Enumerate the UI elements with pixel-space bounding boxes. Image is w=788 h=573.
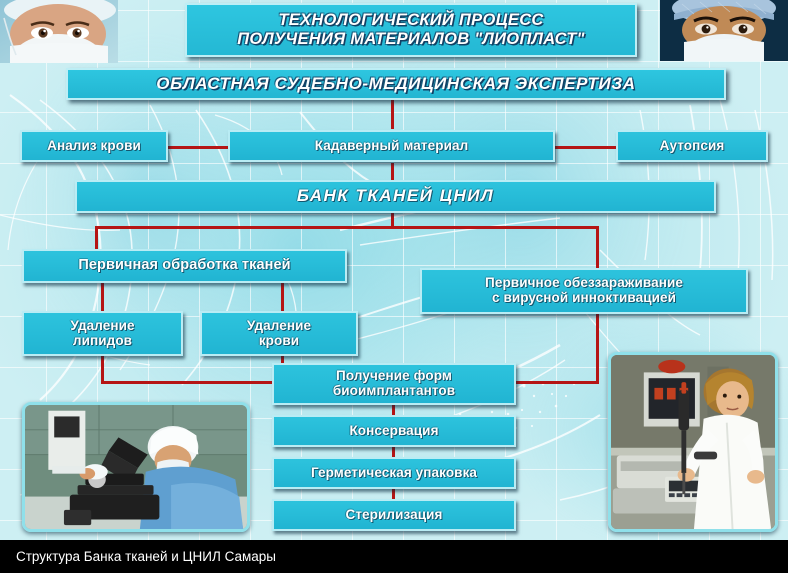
connector-lipid-to-forms	[101, 381, 279, 384]
node-conservation[interactable]: Консервация	[272, 415, 516, 447]
subtitle-banner: ОБЛАСТНАЯ СУДЕБНО-МЕДИЦИНСКАЯ ЭКСПЕРТИЗА	[66, 68, 726, 100]
node-primary-disinfection-line-1: Первичное обеззараживание	[485, 276, 683, 291]
node-tissue-bank[interactable]: БАНК ТКАНЕЙ ЦНИЛ	[75, 180, 716, 213]
node-lipid-removal-line-1: Удаление	[70, 319, 134, 334]
node-hermetic-packaging[interactable]: Герметическая упаковка	[272, 457, 516, 489]
node-blood-removal[interactable]: Удаление крови	[200, 311, 358, 356]
subtitle-text: ОБЛАСТНАЯ СУДЕБНО-МЕДИЦИНСКАЯ ЭКСПЕРТИЗА	[156, 74, 635, 94]
lab-technician-pipette-photo	[608, 352, 778, 532]
node-biomplant-forms-line-1: Получение форм	[336, 369, 452, 384]
masked-doctor-photo	[660, 0, 788, 61]
node-sterilization-label: Стерилизация	[345, 508, 442, 523]
node-blood-removal-line-2: крови	[259, 334, 299, 349]
connector-processing-to-lipid	[101, 282, 104, 312]
node-autopsy[interactable]: Аутопсия	[616, 130, 768, 162]
connector-lipid-down	[101, 355, 104, 383]
node-cadaver-material[interactable]: Кадаверный материал	[228, 130, 555, 162]
connector-bus-to-primary-processing	[95, 226, 98, 250]
node-primary-disinfection-line-2: с вирусной инноктивацией	[492, 291, 676, 306]
node-conservation-label: Консервация	[349, 424, 438, 439]
node-autopsy-label: Аутопсия	[660, 139, 725, 154]
node-primary-processing[interactable]: Первичная обработка тканей	[22, 249, 347, 283]
node-biomplant-forms[interactable]: Получение форм биоимплантантов	[272, 363, 516, 405]
connector-cadaver-to-blood	[166, 146, 230, 149]
caption-bar: Структура Банка тканей и ЦНИЛ Самары	[0, 540, 788, 573]
node-lipid-removal-line-2: липидов	[73, 334, 132, 349]
connector-cadaver-to-autopsy	[553, 146, 618, 149]
node-blood-removal-line-1: Удаление	[247, 319, 311, 334]
connector-subtitle-to-cadaver	[391, 100, 394, 129]
slide-title-banner: ТЕХНОЛОГИЧЕСКИЙ ПРОЦЕСС ПОЛУЧЕНИЯ МАТЕРИ…	[185, 3, 637, 57]
connector-bank-split-bus	[95, 226, 599, 229]
slide-canvas: ТЕХНОЛОГИЧЕСКИЙ ПРОЦЕСС ПОЛУЧЕНИЯ МАТЕРИ…	[0, 0, 788, 573]
microscope-work-photo	[22, 402, 250, 532]
node-blood-analysis[interactable]: Анализ крови	[20, 130, 168, 162]
node-hermetic-packaging-label: Герметическая упаковка	[311, 466, 477, 481]
node-lipid-removal[interactable]: Удаление липидов	[22, 311, 183, 356]
connector-processing-to-blood-removal	[281, 282, 284, 312]
node-sterilization[interactable]: Стерилизация	[272, 499, 516, 531]
title-line-1: ТЕХНОЛОГИЧЕСКИЙ ПРОЦЕСС	[278, 11, 543, 30]
connector-disinfection-down	[596, 314, 599, 383]
node-biomplant-forms-line-2: биоимплантантов	[333, 384, 455, 399]
node-cadaver-material-label: Кадаверный материал	[315, 139, 469, 154]
surgeon-eyes-photo	[0, 0, 118, 63]
node-blood-analysis-label: Анализ крови	[47, 139, 141, 154]
title-line-2: ПОЛУЧЕНИЯ МАТЕРИАЛОВ "ЛИОПЛАСТ"	[237, 30, 584, 49]
caption-text: Структура Банка тканей и ЦНИЛ Самары	[0, 549, 276, 564]
node-primary-processing-label: Первичная обработка тканей	[78, 258, 290, 274]
connector-cadaver-to-bank	[391, 163, 394, 181]
node-primary-disinfection[interactable]: Первичное обеззараживание с вирусной инн…	[420, 268, 748, 314]
connector-disinfection-to-forms	[512, 381, 599, 384]
connector-bus-to-disinfection	[596, 226, 599, 268]
node-tissue-bank-label: БАНК ТКАНЕЙ ЦНИЛ	[297, 187, 494, 205]
